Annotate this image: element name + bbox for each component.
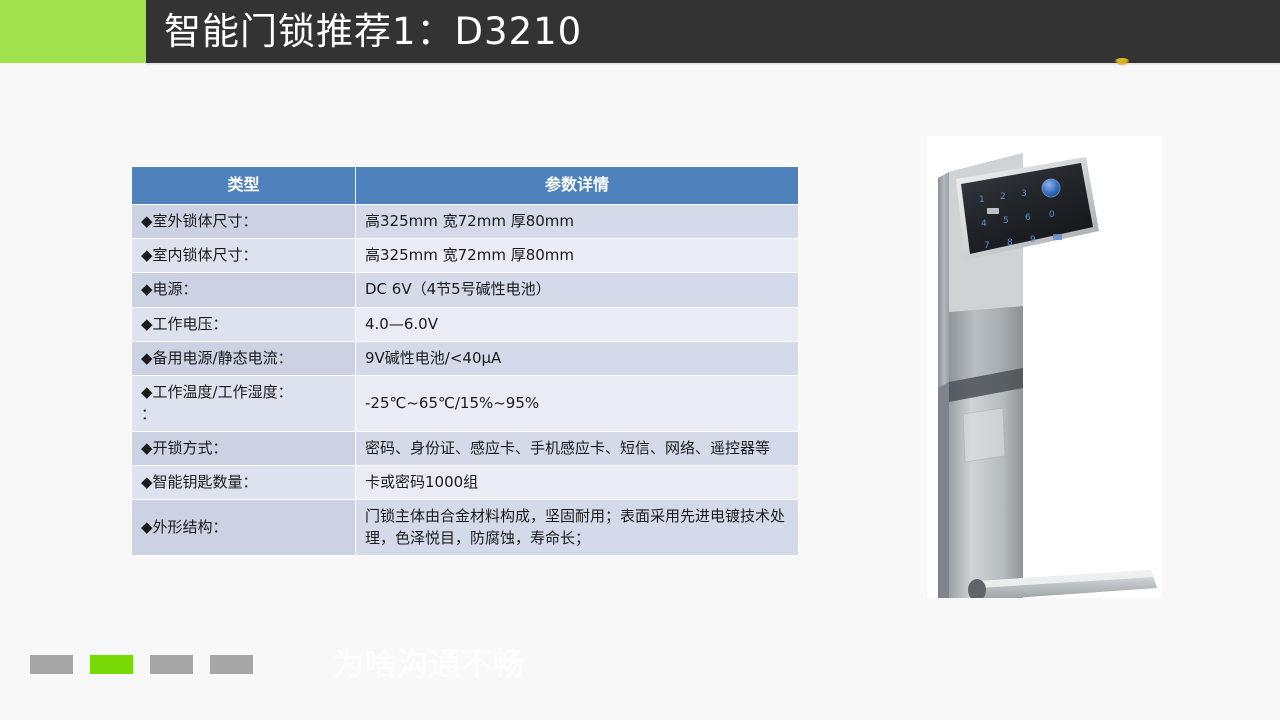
row-type-label: ◆工作电压： (132, 307, 356, 341)
svg-text:3: 3 (1021, 189, 1027, 199)
footer-square-3 (150, 655, 193, 674)
footer-square-1 (30, 655, 73, 674)
column-header-type: 类型 (132, 167, 356, 205)
footer-watermark: 为啥沟通不畅 (333, 645, 525, 685)
table-row: ◆室外锁体尺寸： 高325mm 宽72mm 厚80mm (132, 204, 799, 238)
table-row: ◆备用电源/静态电流： 9V碱性电池/<40μA (132, 341, 799, 375)
svg-text:6: 6 (1025, 213, 1031, 223)
table-row: ◆电源： DC 6V（4节5号碱性电池） (132, 273, 799, 307)
table-row: ◆开锁方式： 密码、身份证、感应卡、手机感应卡、短信、网络、遥控器等 (132, 431, 799, 465)
svg-text:0: 0 (1049, 210, 1055, 220)
row-type-label: ◆备用电源/静态电流： (132, 341, 356, 375)
header-title-bar: 智能门锁推荐1：D3210 (146, 0, 1280, 63)
row-value: 高325mm 宽72mm 厚80mm (356, 204, 799, 238)
slide-header: 智能门锁推荐1：D3210 (0, 0, 1280, 63)
row-type-label: ◆工作温度/工作湿度： ： (132, 376, 356, 432)
footer-square-4 (210, 655, 253, 674)
table-row: ◆工作温度/工作湿度： ： -25℃~65℃/15%~95% (132, 376, 799, 432)
svg-text:9: 9 (1030, 235, 1036, 245)
row-value: 9V碱性电池/<40μA (356, 341, 799, 375)
row-value: 卡或密码1000组 (356, 466, 799, 500)
spec-table: 类型 参数详情 ◆室外锁体尺寸： 高325mm 宽72mm 厚80mm ◆室内锁… (131, 166, 799, 556)
table-row: ◆工作电压： 4.0—6.0V (132, 307, 799, 341)
row-type-label: ◆室外锁体尺寸： (132, 204, 356, 238)
column-header-value: 参数详情 (356, 167, 799, 205)
row-value: -25℃~65℃/15%~95% (356, 376, 799, 432)
row-type-label: ◆电源： (132, 273, 356, 307)
row-value: 密码、身份证、感应卡、手机感应卡、短信、网络、遥控器等 (356, 431, 799, 465)
row-value: 高325mm 宽72mm 厚80mm (356, 239, 799, 273)
footer-square-markers (30, 655, 260, 677)
svg-text:7: 7 (984, 241, 990, 251)
product-photo: 1 2 3 4 5 6 0 7 8 9 (927, 136, 1162, 598)
row-value: 4.0—6.0V (356, 307, 799, 341)
svg-text:5: 5 (1003, 216, 1009, 226)
table-row: ◆智能钥匙数量： 卡或密码1000组 (132, 466, 799, 500)
row-value: DC 6V（4节5号碱性电池） (356, 273, 799, 307)
table-row: ◆外形结构： 门锁主体由合金材料构成，坚固耐用；表面采用先进电镀技术处理，色泽悦… (132, 500, 799, 556)
page-title: 智能门锁推荐1：D3210 (146, 13, 582, 50)
row-type-label: ◆外形结构： (132, 500, 356, 556)
row-type-label: ◆室内锁体尺寸： (132, 239, 356, 273)
stray-yellow-mark-icon (1114, 58, 1130, 66)
svg-text:8: 8 (1007, 238, 1013, 248)
slide-canvas: 智能门锁推荐1：D3210 类型 参数详情 ◆室外锁体尺寸： 高325mm 宽7… (0, 0, 1280, 720)
svg-text:4: 4 (981, 219, 987, 229)
table-header-row: 类型 参数详情 (132, 167, 799, 205)
svg-text:2: 2 (1000, 192, 1006, 202)
header-accent-block (0, 0, 146, 63)
row-type-label: ◆智能钥匙数量： (132, 466, 356, 500)
header-shadow (146, 63, 1280, 66)
row-type-label: ◆开锁方式： (132, 431, 356, 465)
svg-text:1: 1 (979, 195, 985, 205)
row-value: 门锁主体由合金材料构成，坚固耐用；表面采用先进电镀技术处理，色泽悦目，防腐蚀，寿… (356, 500, 799, 556)
footer-square-2-active (90, 655, 133, 674)
table-row: ◆室内锁体尺寸： 高325mm 宽72mm 厚80mm (132, 239, 799, 273)
